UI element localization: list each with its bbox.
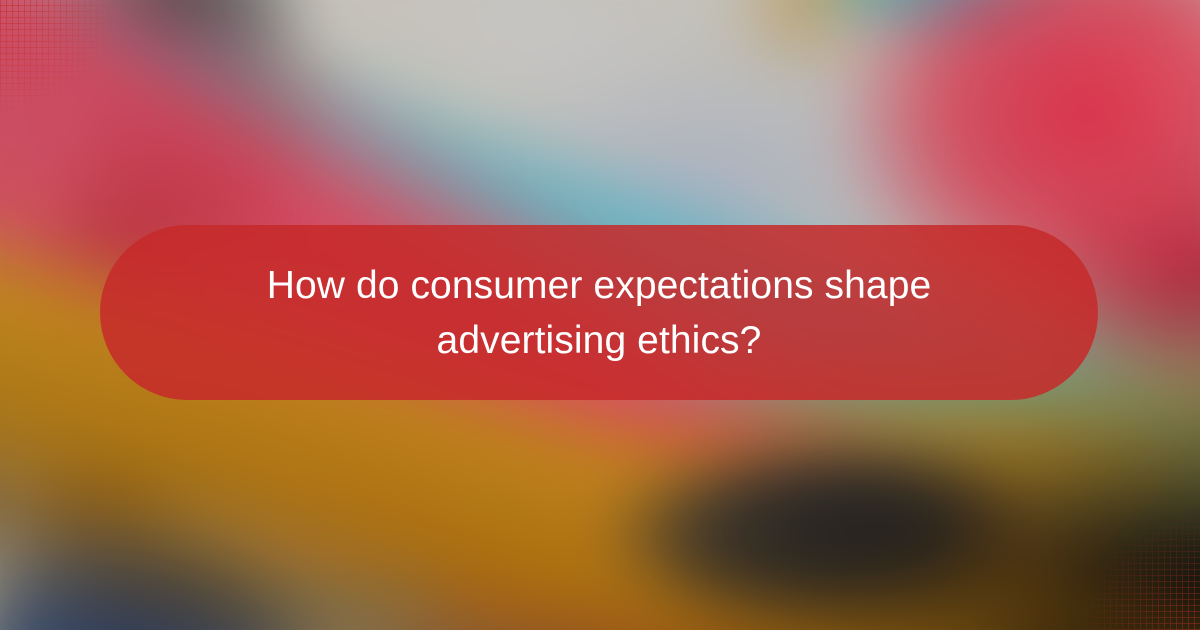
headline-text: How do consumer expectations shape adver… [219,258,979,368]
social-share-card: How do consumer expectations shape adver… [0,0,1200,630]
headline-pill: How do consumer expectations shape adver… [100,225,1098,400]
